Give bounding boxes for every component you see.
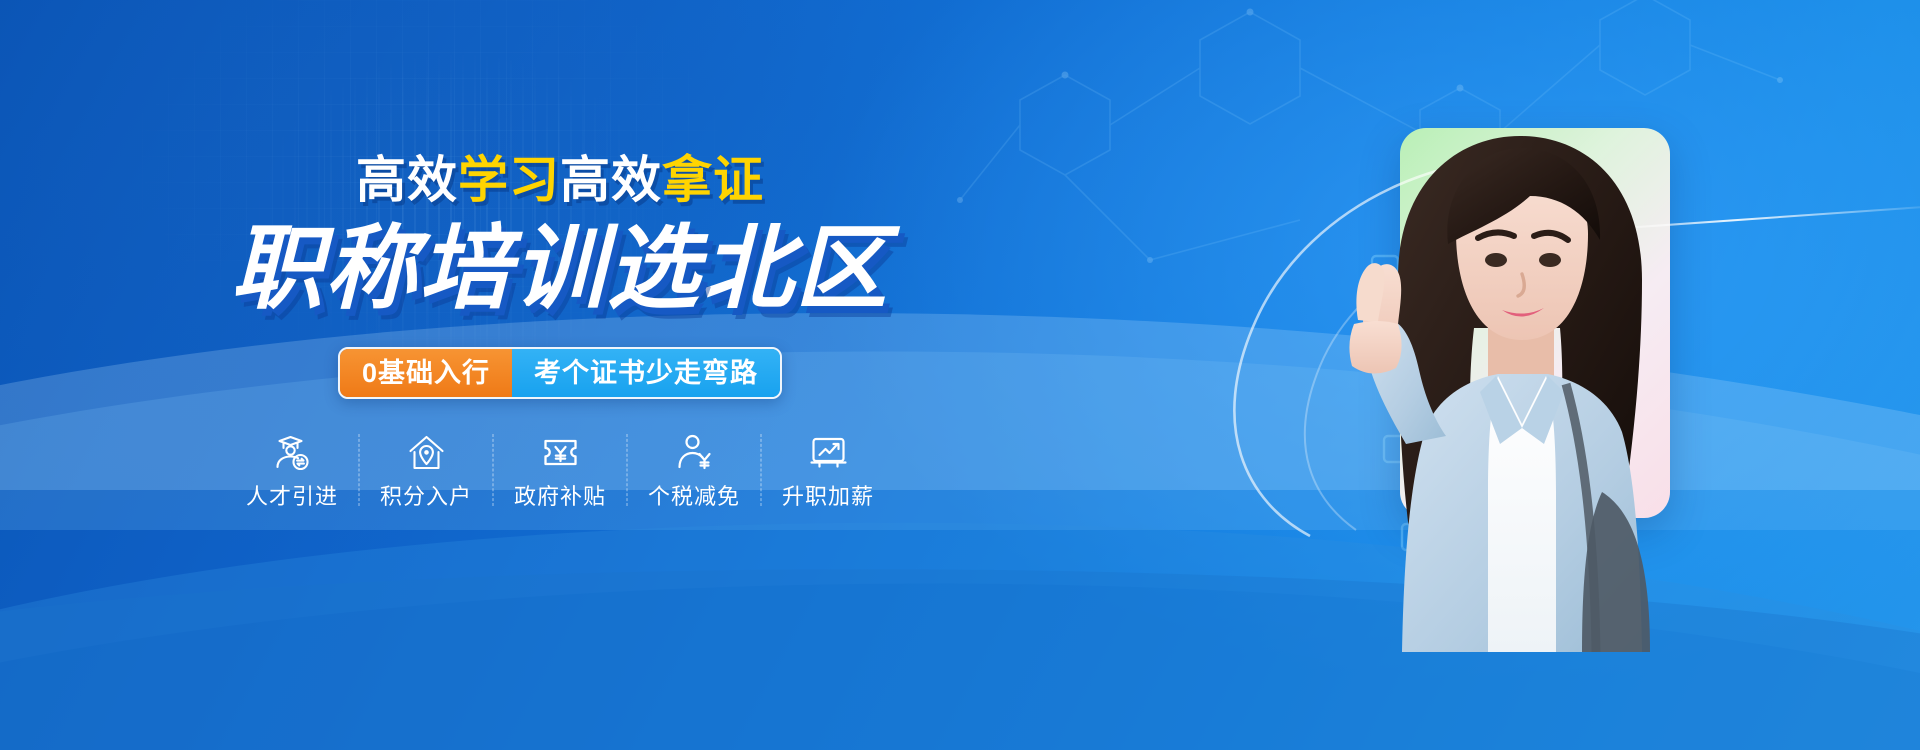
tag-right: 考个证书少走弯路 — [512, 349, 780, 397]
feature-label-tax-reduction: 个税减免 — [648, 486, 740, 508]
home-pin-icon — [403, 430, 449, 476]
feature-label-talent-intro: 人才引进 — [246, 486, 338, 508]
headline-after-accent: 北区 — [701, 218, 889, 320]
ticket-yuan-icon — [537, 430, 583, 476]
hero-visual — [1100, 0, 1920, 750]
feature-item-gov-subsidy[interactable]: 政府补贴 — [494, 430, 627, 508]
copy-block: 高效学习高效拿证 职称培训选北区 0基础入行 考个证书少走弯路 — [0, 0, 1120, 750]
kicker-part-4-highlight: 拿证 — [662, 152, 764, 208]
chart-board-icon — [805, 430, 851, 476]
promo-banner: 高效学习高效拿证 职称培训选北区 0基础入行 考个证书少走弯路 — [0, 0, 1920, 750]
headline-before-accent: 职称培训 — [231, 218, 607, 320]
kicker-part-2-highlight: 学习 — [458, 152, 560, 208]
feature-row: 人才引进 积分入户 — [226, 430, 895, 508]
graduate-exchange-icon — [269, 430, 315, 476]
person-yuan-icon — [671, 430, 717, 476]
feature-label-gov-subsidy: 政府补贴 — [514, 486, 606, 508]
feature-label-promotion-raise: 升职加薪 — [782, 486, 874, 508]
feature-label-points-residency: 积分入户 — [380, 486, 472, 508]
tag-bar: 0基础入行 考个证书少走弯路 — [338, 347, 782, 399]
feature-item-points-residency[interactable]: 积分入户 — [360, 430, 493, 508]
feature-item-promotion-raise[interactable]: 升职加薪 — [762, 430, 895, 508]
feature-item-tax-reduction[interactable]: 个税减免 — [628, 430, 761, 508]
tag-left: 0基础入行 — [340, 349, 512, 397]
kicker-part-3: 高效 — [560, 152, 662, 208]
kicker-line: 高效学习高效拿证 — [0, 155, 1120, 205]
woman-pointing-up-photo — [1230, 92, 1790, 652]
feature-item-talent-intro[interactable]: 人才引进 — [226, 430, 359, 508]
kicker-part-1: 高效 — [356, 152, 458, 208]
headline: 职称培训选北区 — [0, 223, 1120, 315]
headline-accent-char: 选 — [607, 223, 701, 315]
